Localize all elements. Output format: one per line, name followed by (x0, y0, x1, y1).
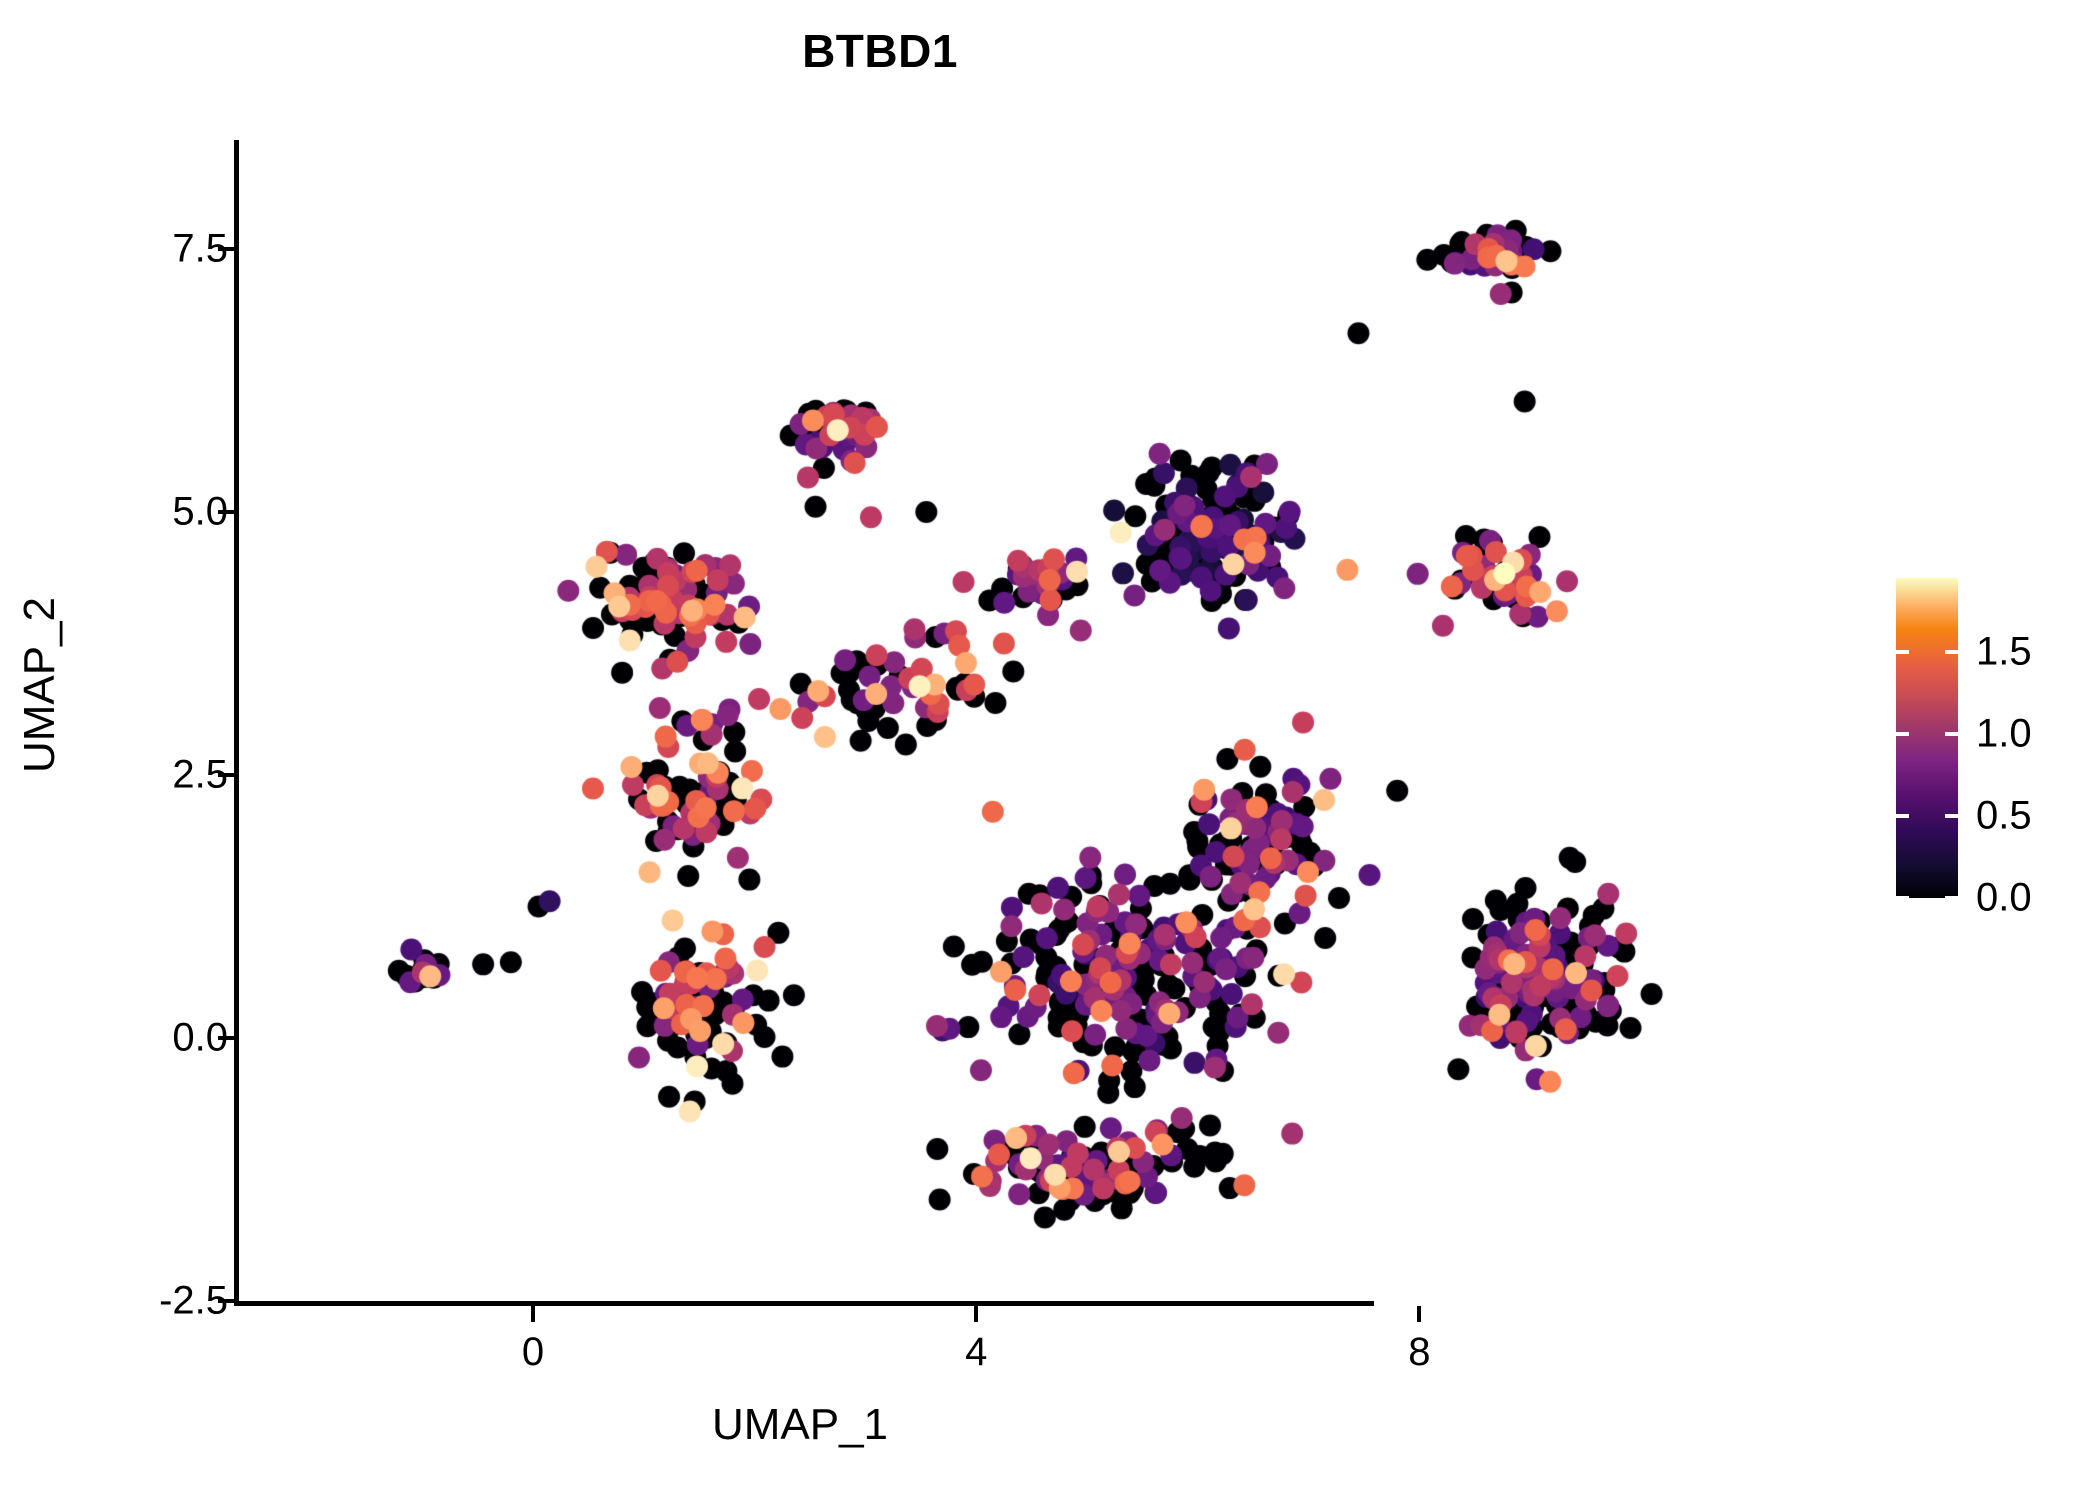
colorbar-tick-mark (1945, 732, 1958, 736)
colorbar-tick-mark (1896, 650, 1909, 654)
colorbar-tick-mark (1896, 814, 1909, 818)
x-tick-label: 8 (1408, 1330, 1430, 1375)
y-tick-label: 7.5 (172, 227, 228, 272)
y-tick-label: 2.5 (172, 753, 228, 798)
y-tick-label: 0.0 (172, 1016, 228, 1061)
colorbar-tick-label: 0.5 (1976, 793, 2032, 838)
y-tick-label: -2.5 (159, 1279, 228, 1324)
x-tick-mark (531, 1306, 535, 1322)
colorbar-gradient (1896, 578, 1958, 898)
y-axis-line (234, 140, 239, 1305)
colorbar-tick-mark (1896, 896, 1909, 900)
x-axis-title: UMAP_1 (0, 1400, 1600, 1450)
colorbar-tick-mark (1945, 896, 1958, 900)
colorbar-tick-mark (1896, 732, 1909, 736)
colorbar-tick-label: 1.0 (1976, 711, 2032, 756)
figure-root: BTBD1 -2.50.02.55.07.5 048 UMAP_1 UMAP_2… (0, 0, 2100, 1500)
colorbar-tick-mark (1945, 650, 1958, 654)
colorbar-tick-mark (1945, 814, 1958, 818)
y-tick-label: 5.0 (172, 490, 228, 535)
scatter-plot-canvas (0, 0, 2100, 1500)
x-tick-mark (974, 1306, 978, 1322)
x-tick-label: 4 (965, 1330, 987, 1375)
x-tick-label: 0 (522, 1330, 544, 1375)
x-tick-mark (1417, 1306, 1421, 1322)
x-axis-line (234, 1301, 1374, 1306)
y-axis-title: UMAP_2 (15, 335, 65, 1035)
colorbar-tick-label: 1.5 (1976, 629, 2032, 674)
colorbar-legend: 0.00.51.01.5 (1896, 578, 2086, 900)
colorbar-tick-label: 0.0 (1976, 876, 2032, 921)
